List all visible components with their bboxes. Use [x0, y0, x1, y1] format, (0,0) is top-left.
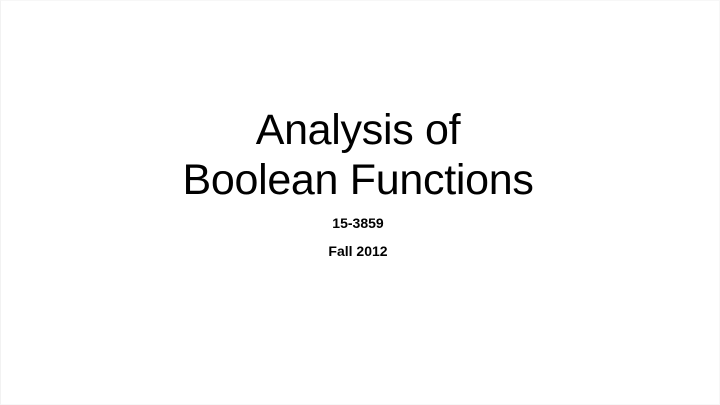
- course-term: Fall 2012: [1, 237, 715, 265]
- subtitle-block: 15-3859 Fall 2012: [1, 209, 719, 265]
- course-number: 15-3859: [1, 209, 715, 237]
- page-title: Analysis of Boolean Functions: [173, 105, 543, 205]
- title-slide: Analysis of Boolean Functions 15-3859 Fa…: [0, 0, 720, 405]
- title-block: Analysis of Boolean Functions: [1, 105, 719, 205]
